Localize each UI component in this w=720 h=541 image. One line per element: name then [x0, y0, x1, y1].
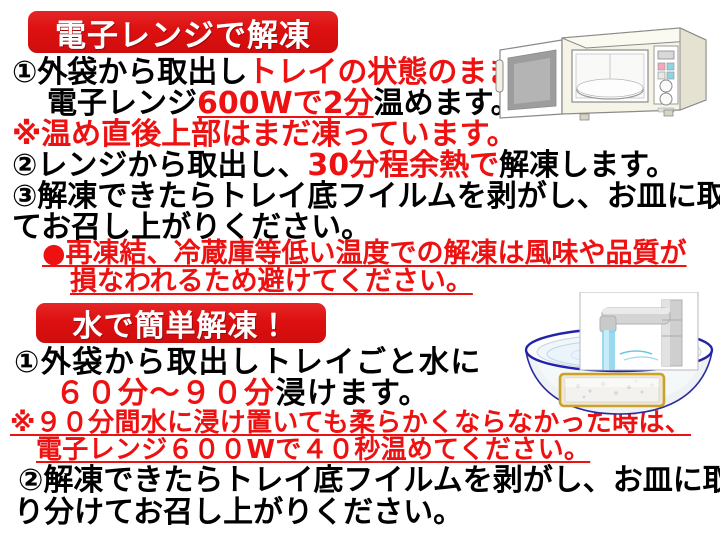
warning-line: 損なわれるため避けてください。	[70, 268, 473, 295]
text-segment: ６０分〜９０分	[55, 376, 276, 411]
instruction-line: り分けてお召し上がりください。	[14, 498, 463, 528]
text-segment: トレイの状態のまま	[247, 55, 517, 90]
text-segment: ②レンジから取出し、	[12, 148, 307, 183]
instruction-line: 電子レンジ600Wで2分温めます。	[47, 89, 521, 119]
section-banner-microwave: 電子レンジで解凍	[28, 11, 338, 53]
text-segment: 解凍します。	[499, 148, 676, 183]
text-segment: ※温め直後上部はまだ凍っています。	[12, 117, 517, 152]
text-segment: ②解凍できたらトレイ底フイルムを剥がし、お皿に取	[18, 463, 720, 498]
instruction-line: ６０分〜９０分浸けます。	[55, 379, 430, 409]
microwave-icon	[494, 14, 712, 122]
instruction-line: ①外袋から取出しトレイごと水に	[14, 348, 482, 378]
instruction-graphic: 電子レンジで解凍 ①外袋から取出しトレイの状態のまま 電子レンジ600Wで2分温…	[0, 0, 720, 541]
text-segment: 600Wで2分	[197, 86, 374, 121]
text-segment: 電子レンジ	[47, 86, 197, 121]
text-segment: 電子レンジ６００Wで４０秒温めてください。	[36, 435, 590, 465]
text-segment: ①外袋から取出し	[12, 55, 247, 90]
instruction-line: ③解凍できたらトレイ底フイルムを剥がし、お皿に取り分け	[12, 182, 720, 212]
text-segment: ①外袋から取出しトレイごと水に	[14, 345, 482, 380]
instruction-line: ②レンジから取出し、30分程余熱で解凍します。	[12, 151, 676, 181]
text-segment: 浸けます。	[276, 376, 431, 411]
instruction-line: ①外袋から取出しトレイの状態のまま	[12, 58, 517, 88]
text-segment: 30分程余熱で	[307, 148, 499, 183]
instruction-line: ※温め直後上部はまだ凍っています。	[12, 120, 517, 150]
instruction-line: ②解凍できたらトレイ底フイルムを剥がし、お皿に取	[18, 466, 720, 496]
warning-line: ●再凍結、冷蔵庫等低い温度での解凍は風味や品質が	[42, 240, 687, 267]
section-banner-water: 水で簡単解凍！	[36, 303, 326, 343]
text-segment: り分けてお召し上がりください。	[14, 495, 463, 530]
text-segment: 損なわれるため避けてください。	[70, 266, 473, 297]
bowl-faucet-icon	[524, 292, 714, 434]
text-segment: ●再凍結、冷蔵庫等低い温度での解凍は風味や品質が	[42, 238, 687, 269]
text-segment: ③解凍できたらトレイ底フイルムを剥がし、お皿に取り分け	[12, 179, 720, 214]
note-line: 電子レンジ６００Wで４０秒温めてください。	[36, 437, 590, 463]
